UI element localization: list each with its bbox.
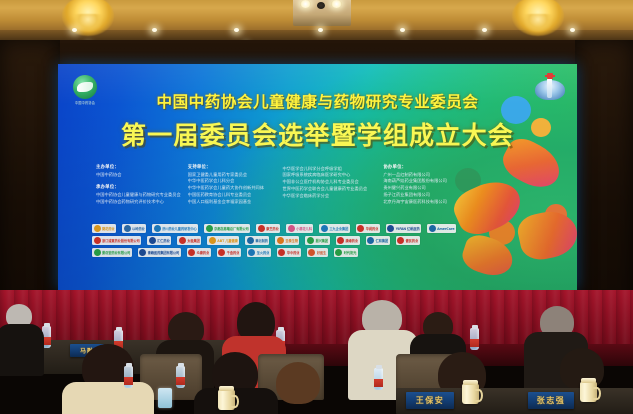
audience-area: 马融 xyxy=(0,296,633,414)
placard-name: 张志强 xyxy=(537,395,566,406)
credits-heading: 协办单位： xyxy=(383,164,459,170)
sponsor-name: 葵花药业 xyxy=(102,226,115,231)
sponsor-name: AmerCare xyxy=(437,227,454,231)
sponsor-mark-icon xyxy=(188,249,195,256)
sponsor-mark-icon xyxy=(149,237,156,244)
sponsor-logo: 时代阳光 xyxy=(334,248,358,257)
sponsor-logo: 以岭药业 xyxy=(122,224,146,233)
tea-mug xyxy=(462,384,479,404)
name-placard: 王保安 xyxy=(406,392,454,409)
sponsor-name: 千金药业 xyxy=(227,250,240,255)
credits-block: 主办单位： 中国中药协会 承办单位： 中国中药协会儿童健康与药物研究专业委员会 … xyxy=(96,164,459,218)
sponsor-mark-icon xyxy=(337,237,344,244)
sponsor-name: 青峰医药集团有限公司 xyxy=(148,250,179,255)
sponsor-logo: 華北制药 xyxy=(245,236,269,245)
sponsor-logo: 圣火药业 xyxy=(247,248,271,257)
sponsor-name: 京都念慈菴总厂有限公司 xyxy=(214,226,249,231)
ceiling-projector-housing xyxy=(293,0,351,26)
credits-line: 中国人口福利基金会幸福家园基金 xyxy=(188,199,273,206)
sponsor-mark-icon xyxy=(429,225,436,232)
sponsor-logo: 景岳堂药业有限公司 xyxy=(92,248,132,257)
sponsor-logo: 太极集团 xyxy=(177,236,201,245)
credits-line: 中华中医药学会儿童药大协作创新共同体 xyxy=(188,185,273,192)
sponsor-mark-icon xyxy=(247,237,254,244)
sponsor-name: 以岭药业 xyxy=(132,226,145,231)
sponsor-mark-icon xyxy=(321,225,328,232)
credits-line: 北京丹海宇宙康医药科技有限公司 xyxy=(383,199,459,206)
sponsor-name: 華北制药 xyxy=(255,238,268,243)
sponsor-logo: 圣泰生物 xyxy=(275,236,299,245)
sponsor-name: 小葵花儿科 xyxy=(296,226,312,231)
sponsor-name: 时代阳光 xyxy=(344,250,357,255)
downlight xyxy=(570,28,575,32)
sponsor-name: 济川药业儿童药研发中心 xyxy=(162,226,197,231)
downlight xyxy=(152,28,157,32)
sponsor-mark-icon xyxy=(258,225,265,232)
water-bottle xyxy=(176,366,185,388)
credits-line: 中国中药协会儿童健康与药物研究专业委员会 xyxy=(96,192,178,199)
downlight xyxy=(234,28,239,32)
sponsor-name: 众康药业 xyxy=(197,250,210,255)
name-placard: 张志强 xyxy=(528,392,574,409)
sponsor-mark-icon xyxy=(139,249,146,256)
water-bottle xyxy=(124,366,133,388)
credits-line: 贵州健兴药业有限公司 xyxy=(383,185,459,192)
sponsor-logo: 小葵花儿科 xyxy=(286,224,313,233)
credits-heading: 承办单位： xyxy=(96,184,178,190)
sponsor-mark-icon xyxy=(179,237,186,244)
sponsor-mark-icon xyxy=(124,225,131,232)
tea-mug xyxy=(580,382,597,402)
water-bottle xyxy=(374,368,383,390)
sponsor-logo: 康缘药业 xyxy=(336,236,360,245)
sponsor-logo: 三九企业集团 xyxy=(319,224,349,233)
attendee-body xyxy=(62,382,154,414)
sponsor-name: 浙江诚意药业股份有限公司 xyxy=(102,238,140,243)
decorative-figure xyxy=(515,206,577,263)
projector-lamp-left-icon xyxy=(300,0,311,8)
bottle-label xyxy=(470,339,479,347)
sponsor-logo: 健民药业 xyxy=(396,236,420,245)
sponsor-name: 振兴集团 xyxy=(315,238,328,243)
bottle-label xyxy=(124,377,133,385)
sponsor-logo: 振兴集团 xyxy=(305,236,329,245)
sponsor-logo: 青峰医药集团有限公司 xyxy=(138,248,181,257)
sponsor-logo: 汇仁药业 xyxy=(147,236,171,245)
sponsor-name: 圣泰生物 xyxy=(285,238,298,243)
sponsor-mark-icon xyxy=(335,249,342,256)
red-cross-icon xyxy=(547,73,553,79)
banner-title-sub: 第一届委员会选举暨学组成立大会 xyxy=(58,116,577,152)
sponsor-logo-grid: 葵花药业以岭药业济川药业儿童药研发中心京都念慈菴总厂有限公司康芝药业小葵花儿科三… xyxy=(92,224,465,257)
sponsor-mark-icon xyxy=(308,249,315,256)
sponsor-mark-icon xyxy=(278,249,285,256)
tea-mug xyxy=(218,390,235,410)
sponsor-logo: AmerCare xyxy=(427,224,456,233)
downlight xyxy=(318,28,323,32)
sponsor-mark-icon xyxy=(248,249,255,256)
sponsor-mark-icon xyxy=(206,225,213,232)
conference-hall-scene: 中国中药协会 中国中药协会儿童健康与药物研究专业委员会 第一届委员会选举暨学组成… xyxy=(0,0,633,414)
credits-line: 中华医学会临床药学分会 xyxy=(283,193,374,200)
sponsor-mark-icon xyxy=(277,237,284,244)
sponsor-mark-icon xyxy=(307,237,314,244)
sponsor-logo: YIFAN 亿帆医药 xyxy=(386,224,421,233)
sponsor-logo: ABT 儿童健康 xyxy=(207,236,239,245)
bottle-label xyxy=(374,379,383,387)
sponsor-name: 三九企业集团 xyxy=(329,226,348,231)
sponsor-name: 景岳堂药业有限公司 xyxy=(102,250,130,255)
sponsor-logo: 浙江诚意药业股份有限公司 xyxy=(92,236,141,245)
downlight xyxy=(400,28,405,32)
sponsor-name: 太极集团 xyxy=(187,238,200,243)
led-banner-screen: 中国中药协会 中国中药协会儿童健康与药物研究专业委员会 第一届委员会选举暨学组成… xyxy=(58,64,577,290)
sponsor-logo: 葵花药业 xyxy=(92,224,116,233)
attendee-head xyxy=(276,362,320,404)
sponsor-logo: 好医生 xyxy=(307,248,328,257)
sponsor-logo: 仁和集团 xyxy=(366,236,390,245)
sponsor-name: 华润药业 xyxy=(366,226,379,231)
sponsor-name: 好医生 xyxy=(317,250,326,255)
sponsor-name: YIFAN 亿帆医药 xyxy=(396,226,420,231)
credits-line: 中国中药协会药物研究评价技术中心 xyxy=(96,199,178,206)
credits-line: 中国医药教育协会儿科专业委员会 xyxy=(188,192,273,199)
sponsor-mark-icon xyxy=(357,225,364,232)
bottle-label xyxy=(176,377,185,385)
credits-column-organizer: 主办单位： 中国中药协会 承办单位： 中国中药协会儿童健康与药物研究专业委员会 … xyxy=(96,164,178,205)
placard-name: 王保安 xyxy=(416,395,445,406)
sponsor-logo: 华中药业 xyxy=(277,248,301,257)
sponsor-name: 仁和集团 xyxy=(376,238,389,243)
wall-panel-right xyxy=(575,40,633,315)
sponsor-mark-icon xyxy=(218,249,225,256)
sponsor-name: 康缘药业 xyxy=(346,238,359,243)
sponsor-logo: 济川药业儿童药研发中心 xyxy=(152,224,198,233)
credits-column-support: 支持单位： 国家卫健委儿童用药专家委员会 中华中医药学会儿科分会 中华中医药学会… xyxy=(188,164,273,205)
smartphone[interactable] xyxy=(158,388,172,408)
credits-heading: 支持单位： xyxy=(188,164,273,170)
downlight xyxy=(72,28,77,32)
credits-line: 世界中医药学会联合会儿童健康药专业委员会 xyxy=(283,186,374,193)
water-bottle xyxy=(470,328,479,350)
downlight xyxy=(482,28,487,32)
sponsor-mark-icon xyxy=(94,249,101,256)
credits-heading: 主办单位： xyxy=(96,164,178,170)
sponsor-name: 圣火药业 xyxy=(257,250,270,255)
sponsor-mark-icon xyxy=(387,225,394,232)
sponsor-mark-icon xyxy=(154,225,161,232)
sponsor-name: 汇仁药业 xyxy=(157,238,170,243)
credits-line: 扬子江药业集团有限公司 xyxy=(383,192,459,199)
sponsor-name: 健民药业 xyxy=(406,238,419,243)
sponsor-mark-icon xyxy=(94,237,101,244)
wall-panel-left xyxy=(0,40,60,315)
sponsor-logo: 华润药业 xyxy=(356,224,380,233)
sponsor-name: ABT 儿童健康 xyxy=(217,238,238,243)
sponsor-logo: 康芝药业 xyxy=(256,224,280,233)
banner-title-main: 中国中药协会儿童健康与药物研究专业委员会 xyxy=(58,90,577,112)
sponsor-row: 葵花药业以岭药业济川药业儿童药研发中心京都念慈菴总厂有限公司康芝药业小葵花儿科三… xyxy=(92,224,465,233)
sponsor-logo: 京都念慈菴总厂有限公司 xyxy=(204,224,250,233)
sponsor-mark-icon xyxy=(367,237,374,244)
credits-column-support-2: 中华医学会儿科学分会呼吸学组 国家呼吸系统疾病临床医学研究中心 中国非公立医疗机… xyxy=(283,164,374,199)
sponsor-mark-icon xyxy=(397,237,404,244)
attendee-body xyxy=(0,324,44,376)
projector-lens-icon xyxy=(317,2,325,9)
sponsor-logo: 众康药业 xyxy=(187,248,211,257)
sponsor-row: 景岳堂药业有限公司青峰医药集团有限公司众康药业千金药业圣火药业华中药业好医生时代… xyxy=(92,248,465,257)
sponsor-logo: 千金药业 xyxy=(217,248,241,257)
credits-column-cosponsor: 协办单位： 广州一品红制药有限公司 海南葫芦娃药业集团股份有限公司 贵州健兴药业… xyxy=(383,164,459,205)
credits-line: 中国非公立医疗机构协会儿科专业委员会 xyxy=(283,179,374,186)
sponsor-mark-icon xyxy=(94,225,101,232)
sponsor-name: 华中药业 xyxy=(287,250,300,255)
sponsor-row: 浙江诚意药业股份有限公司汇仁药业太极集团ABT 儿童健康華北制药圣泰生物振兴集团… xyxy=(92,236,465,245)
projector-lamp-right-icon xyxy=(331,0,342,8)
sponsor-name: 康芝药业 xyxy=(266,226,279,231)
sponsor-mark-icon xyxy=(288,225,295,232)
sponsor-mark-icon xyxy=(209,237,216,244)
credits-line: 中国中药协会 xyxy=(96,172,178,179)
